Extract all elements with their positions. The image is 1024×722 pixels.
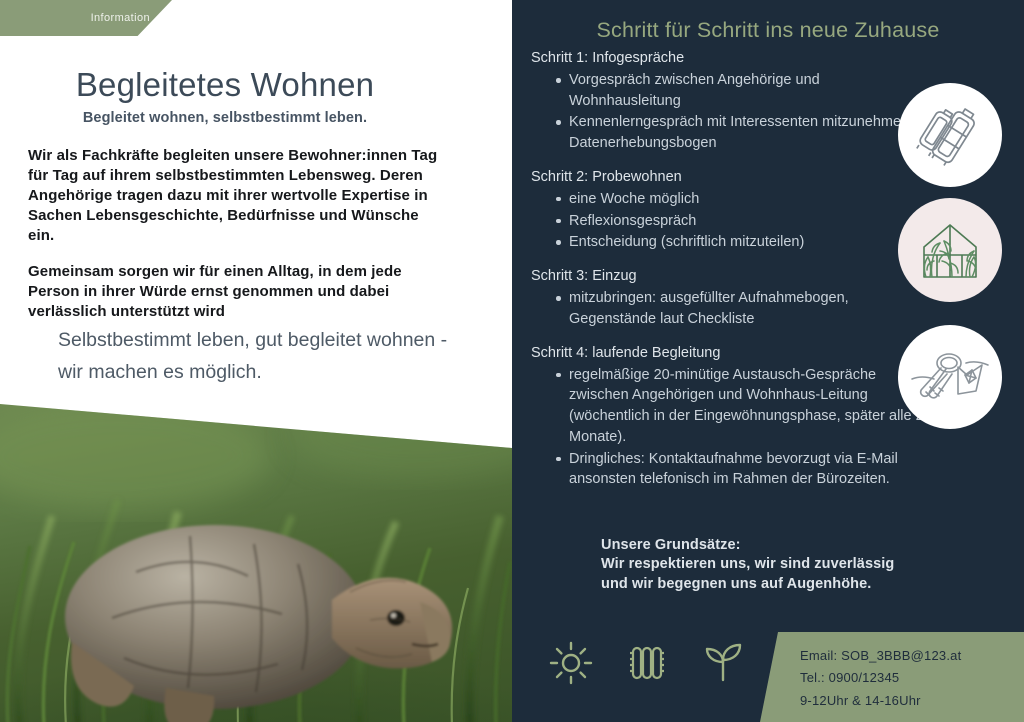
right-panel: Schritt für Schritt ins neue Zuhause Sch… [512, 0, 1024, 722]
step-4: Schritt 4: laufende Begleitung regelmäßi… [531, 343, 931, 490]
title-block: Begleitetes Wohnen Begleitet wohnen, sel… [0, 68, 450, 126]
footer-icon-row [548, 640, 746, 686]
body-paragraph-2: Gemeinsam sorgen wir für einen Alltag, i… [28, 262, 448, 322]
step-2-item: Entscheidung (schriftlich mitzuteilen) [556, 232, 931, 253]
house-keys-icon [910, 345, 990, 409]
greenhouse-plants-icon [914, 217, 986, 283]
step-1: Schritt 1: Infogespräche Vorgespräch zwi… [531, 48, 931, 154]
page-subtitle: Begleitet wohnen, selbstbestimmt leben. [0, 110, 450, 126]
sun-icon [548, 640, 594, 686]
step-4-item: Dringliches: Kontaktaufnahme bevorzugt v… [556, 449, 931, 490]
step-2-heading: Schritt 2: Probewohnen [531, 167, 931, 188]
badge-luggage [898, 83, 1002, 187]
body-copy: Wir als Fachkräfte begleiten unsere Bewo… [28, 146, 448, 338]
page-title: Begleitetes Wohnen [0, 68, 450, 103]
contact-email[interactable]: Email: SOB_3BBB@123.at [800, 645, 1024, 667]
step-2: Schritt 2: Probewohnen eine Woche möglic… [531, 167, 931, 253]
radiator-icon [624, 640, 670, 686]
tortoise-photo [0, 396, 512, 722]
information-tab-banner: Information [0, 0, 172, 36]
step-3-heading: Schritt 3: Einzug [531, 266, 931, 287]
steps-title: Schritt für Schritt ins neue Zuhause [512, 18, 1024, 43]
step-2-item: eine Woche möglich [556, 189, 931, 210]
step-4-item: regelmäßige 20-minütige Austausch-Gesprä… [556, 365, 931, 448]
contact-phone[interactable]: Tel.: 0900/12345 [800, 667, 1024, 689]
step-3-item: mitzubringen: ausgefüllter Aufnahmebogen… [556, 288, 931, 329]
seedling-icon [700, 640, 746, 686]
contact-hours: 9-12Uhr & 14-16Uhr [800, 690, 1024, 712]
steps-list: Schritt 1: Infogespräche Vorgespräch zwi… [531, 48, 931, 503]
principles-heading: Unsere Grundsätze: [601, 536, 1001, 555]
pull-quote: Selbstbestimmt leben, gut begleitet wohn… [58, 325, 468, 388]
step-3: Schritt 3: Einzug mitzubringen: ausgefül… [531, 266, 931, 329]
badge-greenhouse [898, 198, 1002, 302]
poster-page: Information Begleitetes Wohnen Begleitet… [0, 0, 1024, 722]
step-1-heading: Schritt 1: Infogespräche [531, 48, 931, 69]
principles-line-1: Wir respektieren uns, wir sind zuverläss… [601, 555, 1001, 574]
principles-block: Unsere Grundsätze: Wir respektieren uns,… [601, 536, 1001, 594]
tortoise-graphic [40, 452, 470, 722]
badge-keys [898, 325, 1002, 429]
left-panel: Information Begleitetes Wohnen Begleitet… [0, 0, 512, 722]
luggage-icon [913, 98, 987, 172]
step-4-heading: Schritt 4: laufende Begleitung [531, 343, 931, 364]
principles-line-2: und wir begegnen uns auf Augenhöhe. [601, 575, 1001, 594]
information-tab-label: Information [91, 12, 150, 24]
step-1-item: Vorgespräch zwischen Angehörige und Wohn… [556, 70, 931, 111]
step-1-item: Kennenlerngespräch mit Interessenten mit… [556, 112, 931, 153]
body-paragraph-1: Wir als Fachkräfte begleiten unsere Bewo… [28, 146, 448, 246]
step-2-item: Reflexionsgespräch [556, 211, 931, 232]
footer-contact-text: Email: SOB_3BBB@123.at Tel.: 0900/12345 … [800, 645, 1024, 712]
